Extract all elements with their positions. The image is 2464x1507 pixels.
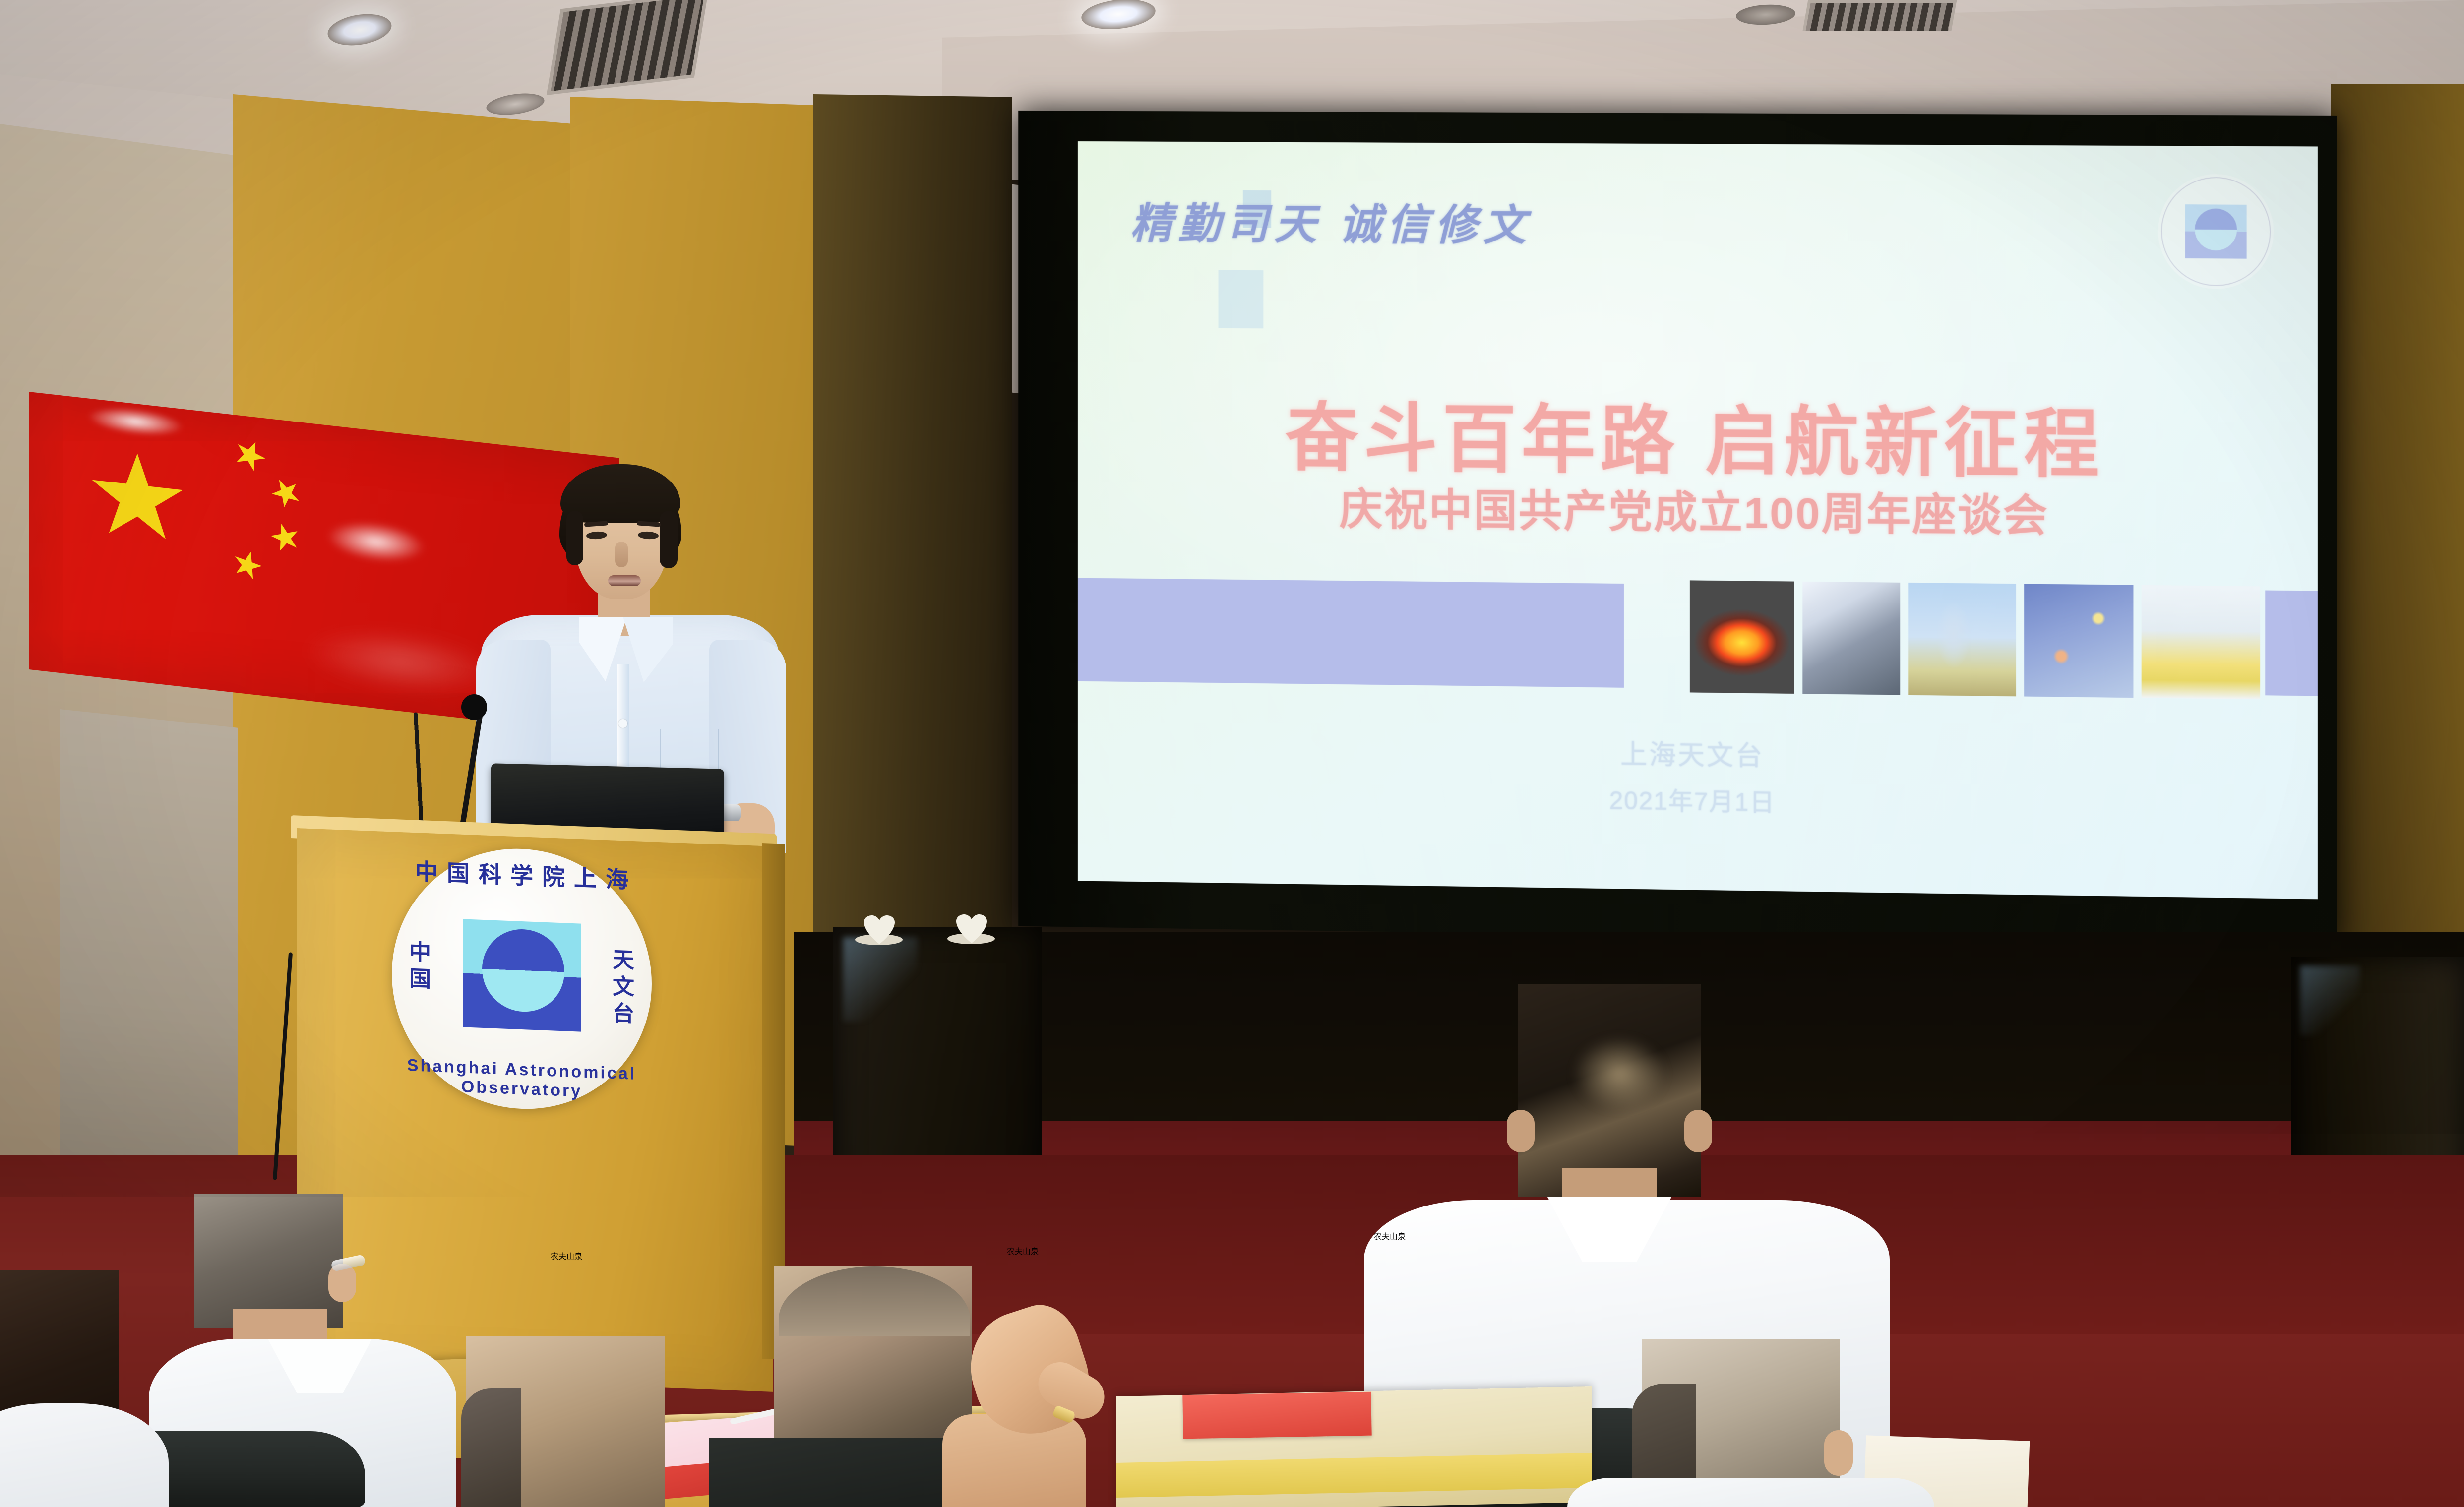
audience-body xyxy=(1567,1478,1934,1507)
audience-head xyxy=(194,1194,343,1328)
slide-date: 2021年7月1日 xyxy=(1078,774,2318,826)
flag-star-small xyxy=(230,435,270,476)
audience-ear xyxy=(1824,1430,1853,1476)
document-red-booklet[interactable] xyxy=(1182,1392,1371,1439)
slide-thumbnail-instrument xyxy=(2142,585,2260,699)
slide-thumbnail-black-hole xyxy=(1690,580,1794,694)
microphone-icon xyxy=(461,694,487,720)
slide-thumbnail-radio-telescope xyxy=(1908,583,2016,696)
audience-ear xyxy=(1684,1110,1712,1152)
presenter-nose xyxy=(615,542,628,567)
wall-pillar xyxy=(60,709,238,1224)
air-vent-grille xyxy=(1803,0,1957,31)
observatory-logo-icon xyxy=(2158,174,2274,289)
slide-thumbnail-telescope-dish xyxy=(1802,582,1900,695)
presenter-hair-side xyxy=(660,511,678,568)
wall-right-panel xyxy=(2331,84,2464,1026)
observatory-seal: 中国科学院上海 中国 天文台 Shanghai Astronomical Obs… xyxy=(392,844,652,1114)
bottle-label: 农夫山泉 xyxy=(1007,1245,1058,1257)
slide-decor-square xyxy=(1219,270,1264,328)
flag-star-large xyxy=(90,448,185,548)
projection-screen: 精勤司天 诚信修文 奋斗百年路 启航新征程 庆祝中国共产党成立100周年座谈会 … xyxy=(1018,111,2337,947)
audience-head-highlight xyxy=(1572,1036,1666,1111)
chair-back[interactable] xyxy=(427,1453,704,1507)
flag-star-small xyxy=(230,547,265,583)
slide-organization: 上海天文台 xyxy=(1078,725,2318,781)
bottle-label: 农夫山泉 xyxy=(551,1250,602,1262)
slide-motto: 精勤司天 诚信修文 xyxy=(1130,189,1532,253)
presentation-slide: 精勤司天 诚信修文 奋斗百年路 启航新征程 庆祝中国共产党成立100周年座谈会 … xyxy=(1078,141,2318,899)
water-bottle[interactable]: 农夫山泉 xyxy=(1374,1230,1423,1384)
seal-text-cn-right: 天文台 xyxy=(606,947,641,1028)
slide-subtitle: 庆祝中国共产党成立100周年座谈会 xyxy=(1078,472,2318,546)
slide-thumbnail-deep-space xyxy=(2024,584,2133,698)
presenter-mouth xyxy=(608,575,641,586)
bottle-label: 农夫山泉 xyxy=(1374,1230,1423,1242)
flag-star-small xyxy=(267,521,303,553)
shirt-button xyxy=(618,719,627,728)
audience-ear xyxy=(1507,1110,1535,1152)
photograph-scene: 精勤司天 诚信修文 奋斗百年路 启航新征程 庆祝中国共产党成立100周年座谈会 … xyxy=(0,0,2464,1507)
flag-star-small xyxy=(266,473,307,513)
presenter-hair-side xyxy=(566,511,583,565)
seal-text-cn-left: 中国 xyxy=(403,939,437,994)
seal-logo-icon xyxy=(463,919,581,1031)
slide-blue-band xyxy=(2265,591,2318,696)
slide-blue-band xyxy=(1078,578,1624,687)
